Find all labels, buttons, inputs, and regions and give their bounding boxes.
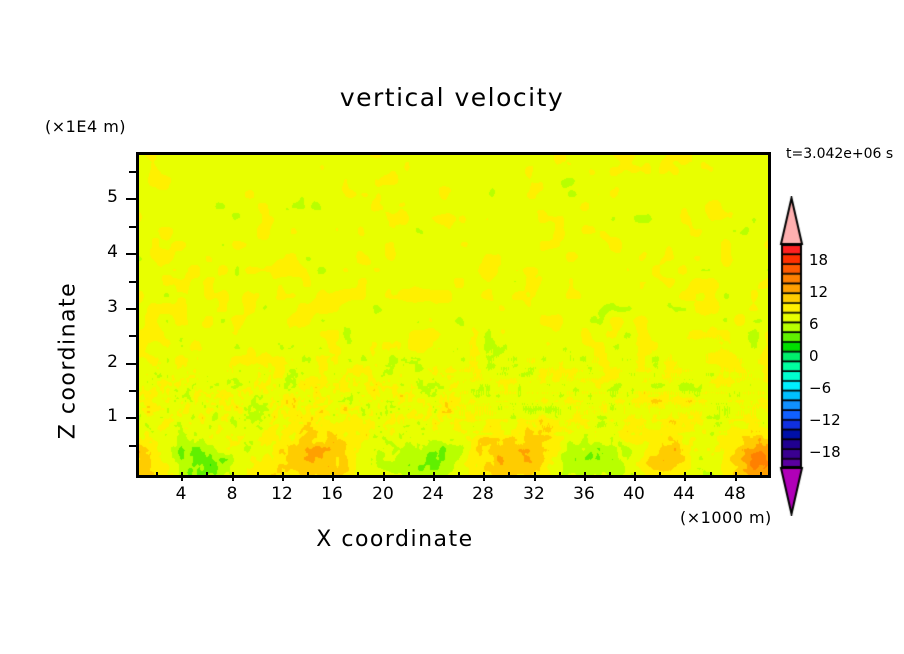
x-axis-tick-label: 4 <box>158 484 204 504</box>
x-axis-tick <box>684 472 686 481</box>
y-axis-unit-label: (×1E4 m) <box>45 117 126 136</box>
x-axis-tick-label: 16 <box>309 484 355 504</box>
x-axis-tick-label: 36 <box>561 484 607 504</box>
x-axis-tick <box>433 472 435 481</box>
colorbar-tick-label: −6 <box>809 379 831 397</box>
figure: vertical velocity (×1E4 m) t=3.042e+06 s… <box>0 0 904 654</box>
x-axis-tick-label: 24 <box>410 484 456 504</box>
y-axis-tick <box>129 281 136 283</box>
colorbar-tick-label: −18 <box>809 443 841 461</box>
x-axis-tick-label: 40 <box>611 484 657 504</box>
x-axis-tick <box>710 472 712 478</box>
plot-area <box>136 152 771 478</box>
contour-field <box>139 155 768 475</box>
x-axis-tick <box>735 472 737 481</box>
x-axis-tick <box>357 472 359 478</box>
y-axis-tick <box>129 390 136 392</box>
x-axis-title: X coordinate <box>0 527 790 552</box>
x-axis-tick-label: 32 <box>511 484 557 504</box>
y-axis-tick <box>129 445 136 447</box>
x-axis-tick <box>534 472 536 481</box>
colorbar-tick-label: 12 <box>809 283 828 301</box>
x-axis-tick-label: 12 <box>259 484 305 504</box>
colorbar: 181260−6−12−18 <box>775 196 815 516</box>
x-axis-tick <box>332 472 334 481</box>
y-axis-tick <box>129 226 136 228</box>
colorbar-tick-label: 0 <box>809 347 819 365</box>
x-axis-tick <box>659 472 661 478</box>
x-axis-tick-label: 48 <box>712 484 758 504</box>
y-axis-tick-label: 2 <box>82 352 118 372</box>
y-axis-tick <box>126 417 136 419</box>
y-axis-tick <box>126 253 136 255</box>
colorbar-tick-label: 18 <box>809 251 828 269</box>
x-axis-tick <box>383 472 385 481</box>
y-axis-tick-label: 3 <box>82 297 118 317</box>
y-axis-tick-label: 4 <box>82 242 118 262</box>
page-title: vertical velocity <box>0 83 904 112</box>
x-axis-tick <box>634 472 636 481</box>
y-axis-tick-label: 5 <box>82 187 118 207</box>
x-axis-tick-label: 28 <box>460 484 506 504</box>
x-axis-tick <box>760 472 762 478</box>
x-axis-tick <box>232 472 234 481</box>
x-axis-tick-label: 8 <box>209 484 255 504</box>
y-axis-tick <box>126 308 136 310</box>
y-axis-tick <box>126 198 136 200</box>
x-axis-tick <box>307 472 309 478</box>
y-axis-title: Z coordinate <box>56 251 81 471</box>
x-axis-tick <box>584 472 586 481</box>
x-axis-tick <box>609 472 611 478</box>
y-axis-tick <box>126 363 136 365</box>
colorbar-tick-label: −12 <box>809 411 841 429</box>
timestamp-annotation: t=3.042e+06 s <box>786 146 893 162</box>
x-axis-tick <box>458 472 460 478</box>
x-axis-tick-label: 44 <box>661 484 707 504</box>
x-axis-tick <box>206 472 208 478</box>
x-axis-tick <box>483 472 485 481</box>
x-axis-tick <box>282 472 284 481</box>
x-axis-tick <box>508 472 510 478</box>
x-axis-tick <box>156 472 158 478</box>
x-axis-tick <box>181 472 183 481</box>
x-axis-tick-label: 20 <box>360 484 406 504</box>
x-axis-tick <box>559 472 561 478</box>
x-axis-unit-label: (×1000 m) <box>680 508 772 527</box>
y-axis-tick <box>129 171 136 173</box>
x-axis-tick <box>257 472 259 478</box>
y-axis-tick-label: 1 <box>82 406 118 426</box>
colorbar-tick-label: 6 <box>809 315 819 333</box>
y-axis-tick <box>129 335 136 337</box>
x-axis-tick <box>408 472 410 478</box>
